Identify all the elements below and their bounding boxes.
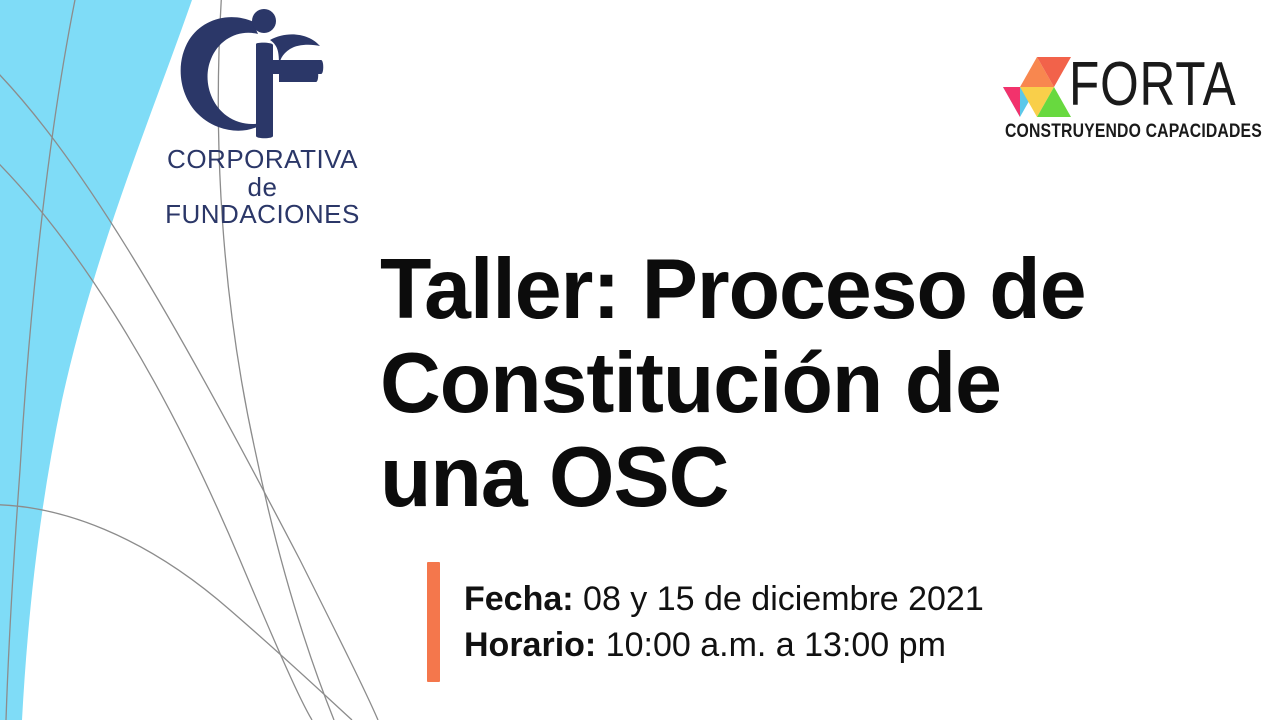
detail-row-horario: Horario: 10:00 a.m. a 13:00 pm: [464, 622, 984, 668]
detail-label-fecha: Fecha:: [464, 580, 574, 618]
triangle-bottom-pink: [1003, 87, 1020, 117]
cif-logo: CORPORATIVA de FUNDACIONES: [150, 8, 375, 208]
cif-wordmark-line2: de FUNDACIONES: [150, 174, 375, 229]
detail-value-fecha: 08 y 15 de diciembre 2021: [574, 580, 984, 618]
detail-row-fecha: Fecha: 08 y 15 de diciembre 2021: [464, 576, 984, 622]
detail-label-horario: Horario:: [464, 626, 596, 664]
detail-value-horario: 10:00 a.m. a 13:00 pm: [596, 626, 946, 664]
cif-wordmark-line1: CORPORATIVA: [150, 146, 375, 174]
forta-tagline: CONSTRUYENDO CAPACIDADES: [1005, 122, 1189, 142]
cif-monogram-icon: [178, 8, 328, 143]
page-title: Taller: Proceso de Constitución de una O…: [380, 243, 1210, 525]
cif-wordmark: CORPORATIVA de FUNDACIONES: [150, 146, 375, 229]
event-details-text: Fecha: 08 y 15 de diciembre 2021 Horario…: [464, 562, 984, 682]
slide-canvas: CORPORATIVA de FUNDACIONES FORTA CONSTRU…: [0, 0, 1280, 720]
forta-wordmark: FORTA: [1069, 54, 1237, 116]
page-title-line-2: Constitución de: [380, 337, 1202, 431]
forta-logo: FORTA CONSTRUYENDO CAPACIDADES: [1003, 54, 1225, 148]
forta-triangles-icon: [1003, 56, 1071, 118]
accent-bar: [427, 562, 440, 682]
event-details: Fecha: 08 y 15 de diciembre 2021 Horario…: [427, 562, 984, 682]
page-title-line-1: Taller: Proceso de: [380, 243, 1202, 337]
page-title-line-3: una OSC: [380, 431, 1202, 525]
